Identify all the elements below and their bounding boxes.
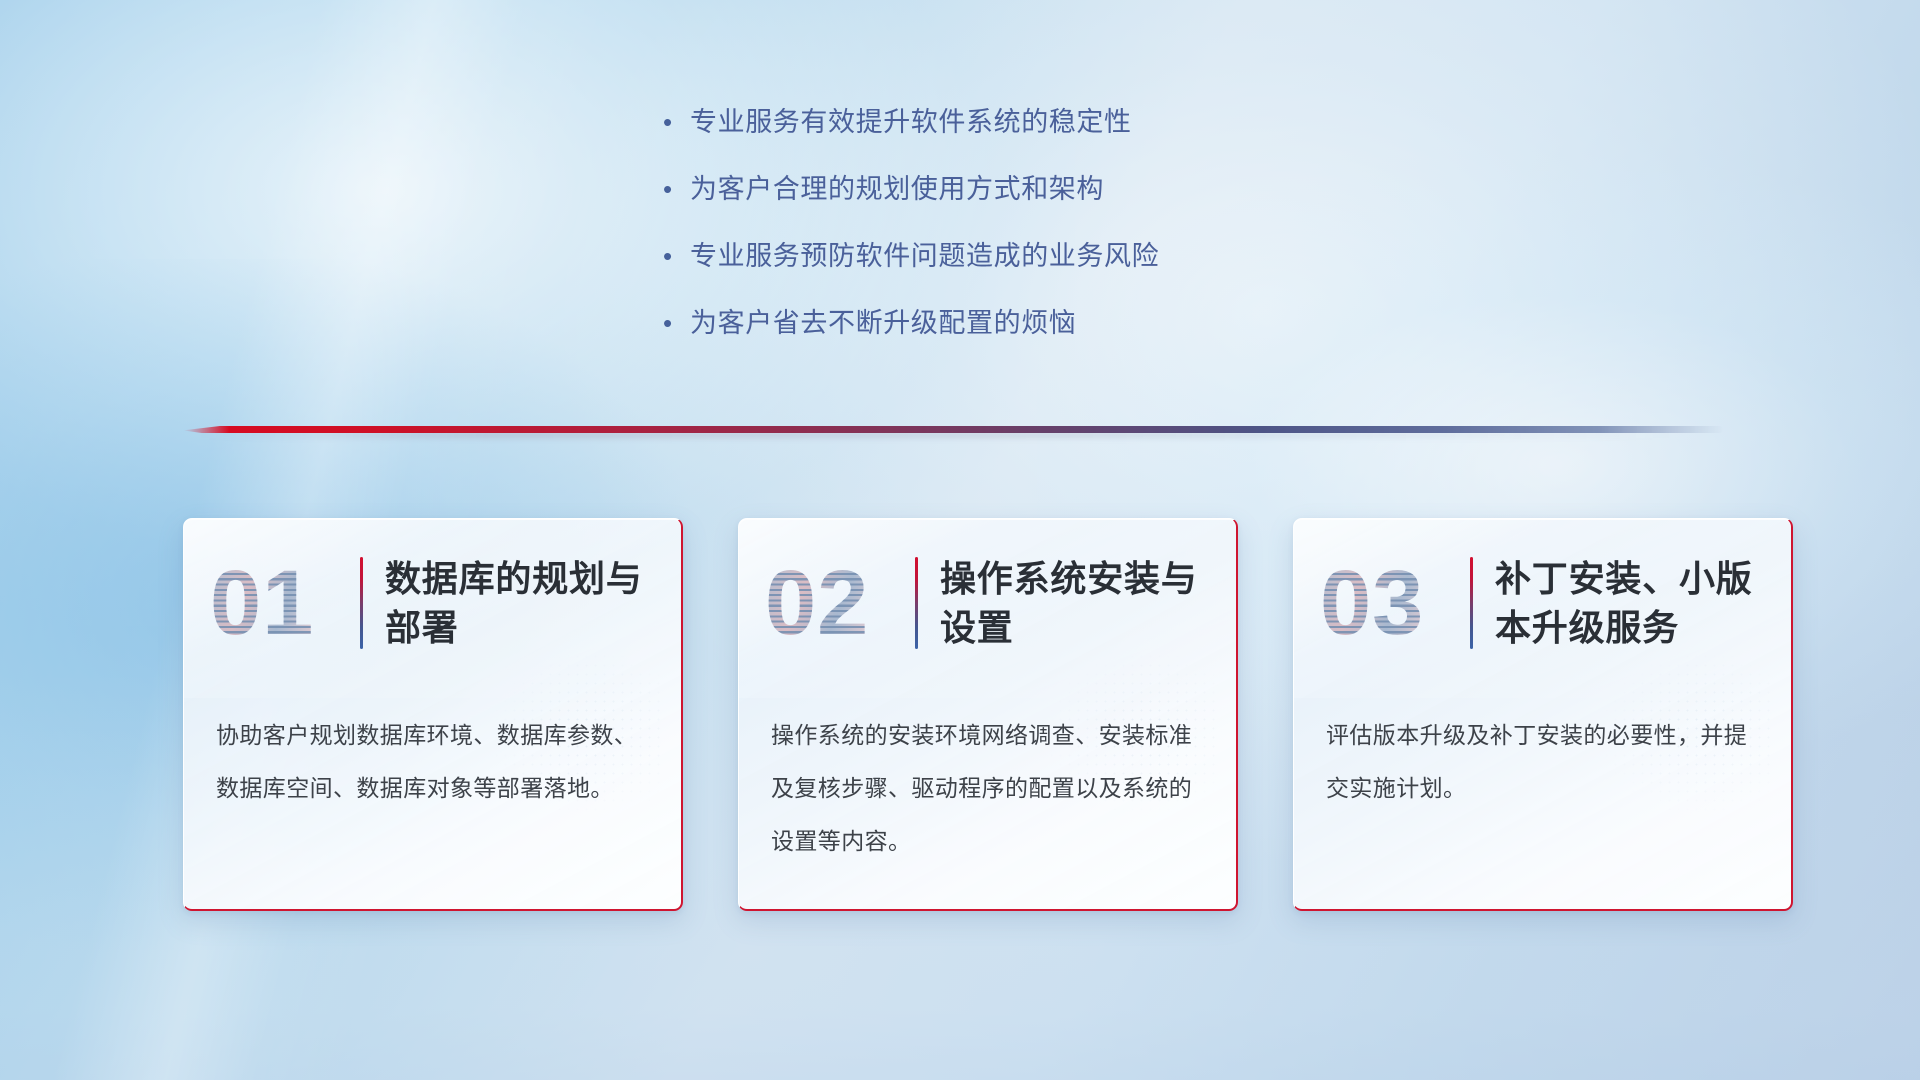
card-title: 补丁安装、小版本升级服务 xyxy=(1495,554,1771,652)
list-item: • 专业服务有效提升软件系统的稳定性 xyxy=(660,103,1420,141)
bullet-text: 专业服务预防软件问题造成的业务风险 xyxy=(690,237,1159,275)
divider-gradient-bar xyxy=(183,426,1723,433)
card-divider-bar xyxy=(915,557,918,649)
bullet-dot-icon: • xyxy=(660,304,690,342)
card-number-watermark: 01 xyxy=(210,557,356,649)
card-divider-bar xyxy=(1470,557,1473,649)
card-number-watermark: 02 xyxy=(765,557,911,649)
card-body-text: 操作系统的安装环境网络调查、安装标准及复核步骤、驱动程序的配置以及系统的设置等内… xyxy=(739,687,1236,868)
bullet-dot-icon: • xyxy=(660,237,690,275)
card-header: 03 补丁安装、小版本升级服务 xyxy=(1294,519,1791,687)
list-item: • 为客户合理的规划使用方式和架构 xyxy=(660,170,1420,208)
list-item: • 专业服务预防软件问题造成的业务风险 xyxy=(660,237,1420,275)
benefits-bullet-list: • 专业服务有效提升软件系统的稳定性 • 为客户合理的规划使用方式和架构 • 专… xyxy=(660,103,1420,371)
slide-content: • 专业服务有效提升软件系统的稳定性 • 为客户合理的规划使用方式和架构 • 专… xyxy=(0,0,1920,1080)
bullet-text: 专业服务有效提升软件系统的稳定性 xyxy=(690,103,1132,141)
list-item: • 为客户省去不断升级配置的烦恼 xyxy=(660,304,1420,342)
bullet-dot-icon: • xyxy=(660,103,690,141)
service-card-01[interactable]: 01 数据库的规划与部署 协助客户规划数据库环境、数据库参数、数据库空间、数据库… xyxy=(183,518,683,911)
card-header: 01 数据库的规划与部署 xyxy=(184,519,681,687)
service-card-02[interactable]: 02 操作系统安装与设置 操作系统的安装环境网络调查、安装标准及复核步骤、驱动程… xyxy=(738,518,1238,911)
card-title: 操作系统安装与设置 xyxy=(940,554,1216,652)
card-divider-bar xyxy=(360,557,363,649)
card-body-text: 协助客户规划数据库环境、数据库参数、数据库空间、数据库对象等部署落地。 xyxy=(184,687,681,815)
section-divider xyxy=(183,424,1723,440)
card-title: 数据库的规划与部署 xyxy=(385,554,661,652)
service-cards-row: 01 数据库的规划与部署 协助客户规划数据库环境、数据库参数、数据库空间、数据库… xyxy=(183,518,1793,918)
bullet-text: 为客户省去不断升级配置的烦恼 xyxy=(690,304,1076,342)
card-body-text: 评估版本升级及补丁安装的必要性，并提交实施计划。 xyxy=(1294,687,1791,815)
card-number-watermark: 03 xyxy=(1320,557,1466,649)
bullet-text: 为客户合理的规划使用方式和架构 xyxy=(690,170,1104,208)
bullet-dot-icon: • xyxy=(660,170,690,208)
service-card-03[interactable]: 03 补丁安装、小版本升级服务 评估版本升级及补丁安装的必要性，并提交实施计划。 xyxy=(1293,518,1793,911)
card-header: 02 操作系统安装与设置 xyxy=(739,519,1236,687)
